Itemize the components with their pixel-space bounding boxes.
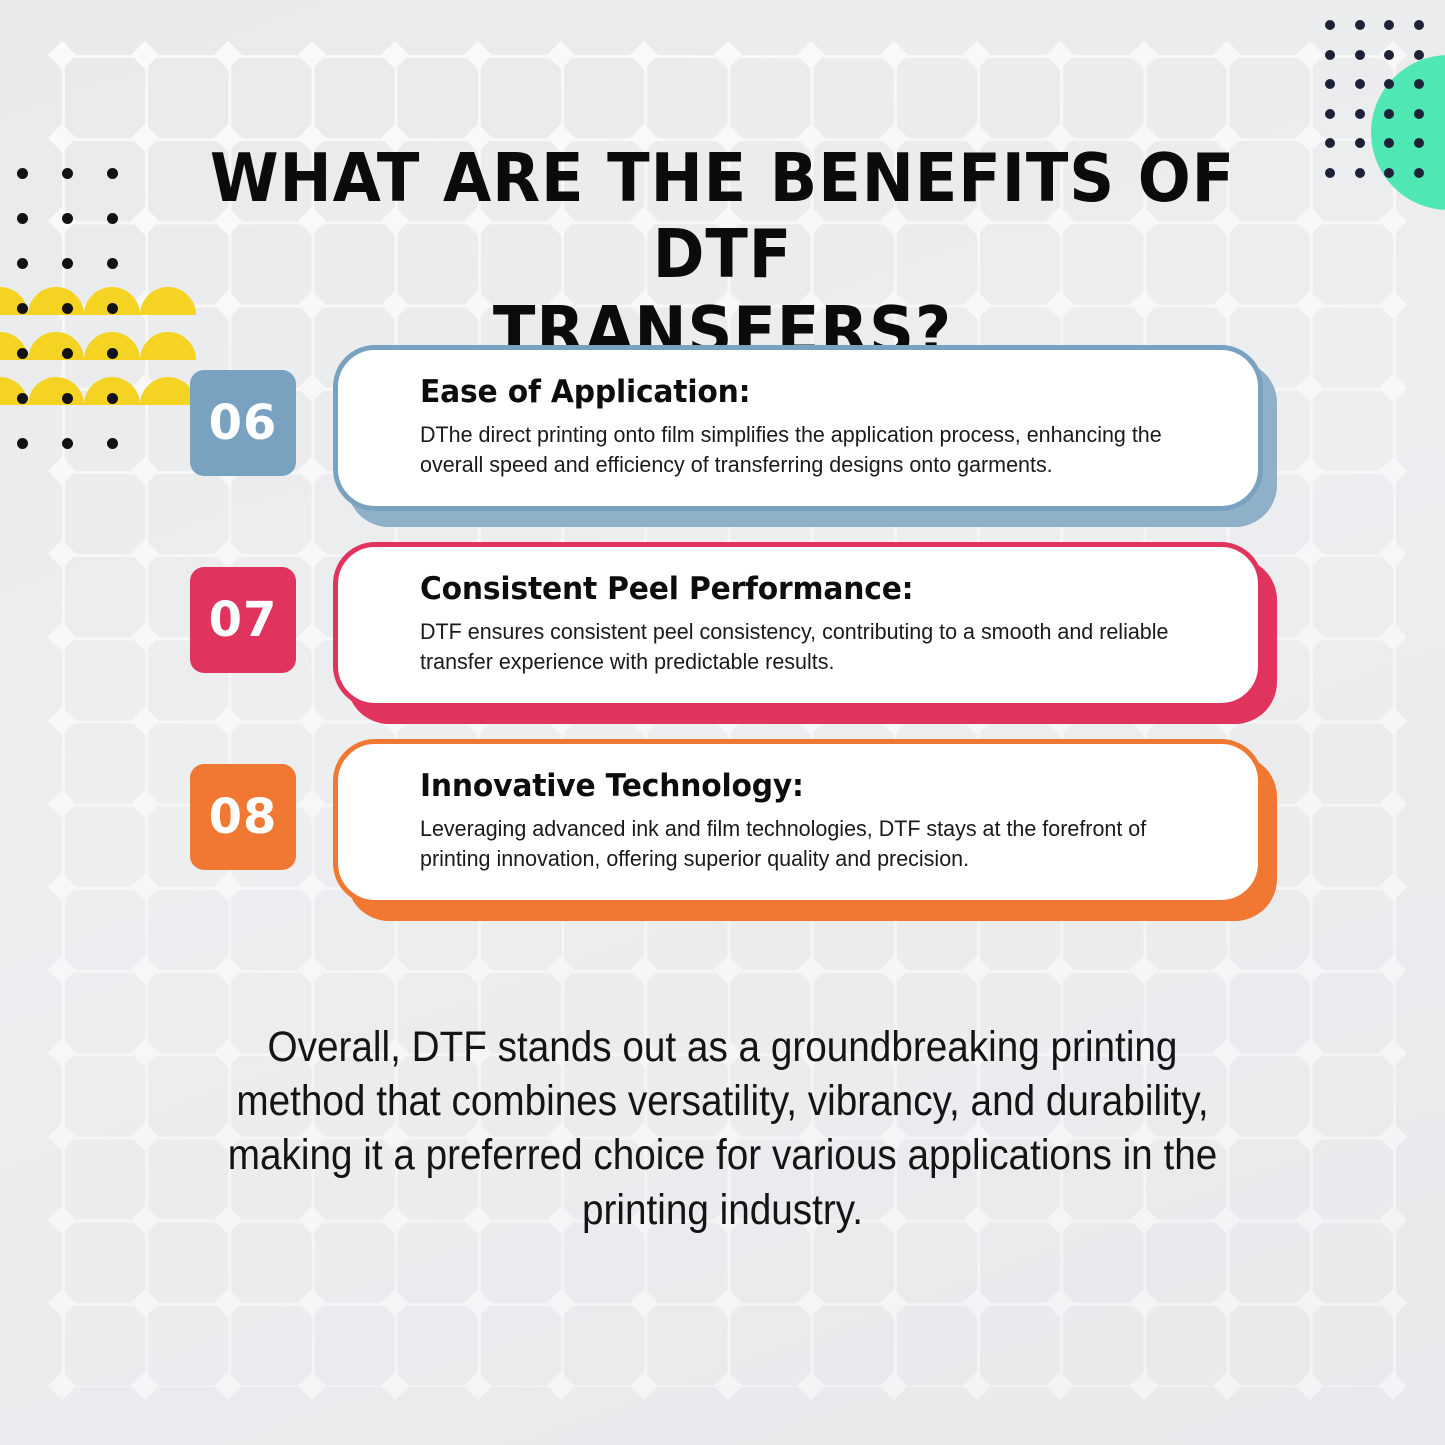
decor-dot (107, 303, 118, 314)
decor-semicircle (0, 287, 28, 315)
grid-intersection-diamond (547, 1289, 575, 1317)
grid-intersection-diamond (1046, 956, 1074, 984)
decor-dot (1355, 50, 1365, 60)
grid-intersection-diamond (48, 124, 76, 152)
decor-dot (1325, 79, 1335, 89)
grid-intersection-diamond (48, 1289, 76, 1317)
decor-dot (1355, 20, 1365, 30)
grid-intersection-diamond (131, 1372, 159, 1400)
benefit-item: 07 Consistent Peel Performance: DTF ensu… (0, 542, 1445, 722)
grid-intersection-diamond (797, 1372, 825, 1400)
grid-intersection-diamond (48, 1372, 76, 1400)
benefit-number-badge: 08 (190, 764, 296, 870)
decor-dot (1414, 79, 1424, 89)
benefit-card-body: DThe direct printing onto film simplifie… (420, 420, 1188, 480)
grid-intersection-diamond (797, 1289, 825, 1317)
grid-intersection-diamond (131, 1122, 159, 1150)
decor-dot (1414, 20, 1424, 30)
grid-intersection-diamond (1296, 207, 1324, 235)
summary-paragraph: Overall, DTF stands out as a groundbreak… (225, 1020, 1220, 1237)
grid-intersection-diamond (297, 1372, 325, 1400)
grid-intersection-diamond (1379, 1206, 1407, 1234)
grid-intersection-diamond (963, 41, 991, 69)
decor-dot (17, 303, 28, 314)
grid-intersection-diamond (48, 290, 76, 318)
decor-dot (1325, 138, 1335, 148)
decor-dot (1355, 138, 1365, 148)
grid-intersection-diamond (1046, 1372, 1074, 1400)
benefit-card-wrapper: Innovative Technology: Leveraging advanc… (333, 739, 1263, 905)
benefit-card-heading: Ease of Application: (420, 374, 1192, 410)
decor-dot (1325, 50, 1335, 60)
grid-intersection-diamond (880, 1289, 908, 1317)
grid-intersection-diamond (1296, 1039, 1324, 1067)
page-title: WHAT ARE THE BENEFITS OF DTF TRANSFERS? (190, 140, 1255, 369)
grid-intersection-diamond (547, 1372, 575, 1400)
grid-intersection-diamond (1129, 41, 1157, 69)
grid-intersection-diamond (214, 956, 242, 984)
grid-intersection-diamond (131, 1206, 159, 1234)
grid-intersection-diamond (1046, 41, 1074, 69)
grid-intersection-diamond (297, 956, 325, 984)
grid-intersection-diamond (1379, 956, 1407, 984)
grid-intersection-diamond (880, 41, 908, 69)
grid-intersection-diamond (630, 41, 658, 69)
decor-dot (17, 213, 28, 224)
grid-intersection-diamond (963, 1372, 991, 1400)
benefit-card-wrapper: Ease of Application: DThe direct printin… (333, 345, 1263, 511)
grid-intersection-diamond (131, 956, 159, 984)
decor-dot (62, 168, 73, 179)
grid-intersection-diamond (713, 1289, 741, 1317)
decoration-left (0, 0, 160, 400)
decor-dot (17, 168, 28, 179)
grid-intersection-diamond (1046, 1289, 1074, 1317)
decor-dot (17, 258, 28, 269)
decor-semicircle (140, 287, 196, 315)
grid-intersection-diamond (963, 956, 991, 984)
grid-intersection-diamond (547, 956, 575, 984)
decor-dot (1384, 109, 1394, 119)
grid-intersection-diamond (381, 1289, 409, 1317)
grid-intersection-diamond (1129, 1289, 1157, 1317)
grid-intersection-diamond (131, 41, 159, 69)
grid-intersection-diamond (630, 956, 658, 984)
grid-intersection-diamond (1129, 1372, 1157, 1400)
decor-dot (107, 213, 118, 224)
decor-dot (62, 213, 73, 224)
decor-dot (107, 258, 118, 269)
benefit-item: 08 Innovative Technology: Leveraging adv… (0, 739, 1445, 919)
grid-intersection-diamond (48, 1206, 76, 1234)
benefit-card: Innovative Technology: Leveraging advanc… (333, 739, 1263, 905)
mint-circle-shape (1371, 55, 1445, 210)
grid-intersection-diamond (131, 207, 159, 235)
decor-dot (1414, 109, 1424, 119)
grid-intersection-diamond (381, 1372, 409, 1400)
grid-intersection-diamond (1379, 1372, 1407, 1400)
grid-intersection-diamond (1379, 124, 1407, 152)
grid-intersection-diamond (1296, 1206, 1324, 1234)
page-title-line-1: WHAT ARE THE BENEFITS OF DTF (190, 140, 1255, 293)
decor-semicircle (84, 287, 140, 315)
decor-dot (107, 168, 118, 179)
grid-intersection-diamond (1296, 290, 1324, 318)
grid-intersection-diamond (48, 207, 76, 235)
decor-dot (1384, 79, 1394, 89)
grid-intersection-diamond (131, 1039, 159, 1067)
decor-dot (1384, 168, 1394, 178)
decor-dot (62, 303, 73, 314)
decor-dot (1384, 50, 1394, 60)
benefit-card: Ease of Application: DThe direct printin… (333, 345, 1263, 511)
grid-intersection-diamond (963, 1289, 991, 1317)
grid-intersection-diamond (214, 1372, 242, 1400)
decor-semicircle (28, 287, 84, 315)
grid-intersection-diamond (713, 1372, 741, 1400)
grid-intersection-diamond (713, 41, 741, 69)
decor-dot (1384, 138, 1394, 148)
benefit-card-heading: Consistent Peel Performance: (420, 571, 1192, 607)
decor-dot (1325, 168, 1335, 178)
grid-intersection-diamond (464, 1289, 492, 1317)
decor-dot (62, 258, 73, 269)
grid-intersection-diamond (297, 1289, 325, 1317)
grid-intersection-diamond (880, 956, 908, 984)
grid-intersection-diamond (1379, 207, 1407, 235)
decor-dot (1355, 109, 1365, 119)
grid-intersection-diamond (630, 1289, 658, 1317)
grid-intersection-diamond (797, 41, 825, 69)
grid-intersection-diamond (1296, 1372, 1324, 1400)
grid-intersection-diamond (131, 290, 159, 318)
grid-intersection-diamond (1129, 956, 1157, 984)
grid-intersection-diamond (1213, 41, 1241, 69)
grid-intersection-diamond (1379, 1039, 1407, 1067)
grid-intersection-diamond (48, 956, 76, 984)
grid-intersection-diamond (797, 956, 825, 984)
decor-dot (1325, 109, 1335, 119)
decor-dot (1355, 79, 1365, 89)
decor-dot (1325, 20, 1335, 30)
grid-intersection-diamond (464, 956, 492, 984)
grid-intersection-diamond (381, 41, 409, 69)
grid-intersection-diamond (48, 41, 76, 69)
grid-intersection-diamond (1296, 956, 1324, 984)
grid-intersection-diamond (1379, 290, 1407, 318)
grid-intersection-diamond (1213, 956, 1241, 984)
grid-intersection-diamond (214, 1289, 242, 1317)
grid-intersection-diamond (214, 41, 242, 69)
decor-dot (1414, 138, 1424, 148)
benefit-number-badge: 06 (190, 370, 296, 476)
grid-intersection-diamond (464, 41, 492, 69)
grid-intersection-diamond (131, 1289, 159, 1317)
decor-dot (1355, 168, 1365, 178)
grid-intersection-diamond (464, 1372, 492, 1400)
benefit-number-badge: 07 (190, 567, 296, 673)
grid-intersection-diamond (48, 1039, 76, 1067)
benefit-card-wrapper: Consistent Peel Performance: DTF ensures… (333, 542, 1263, 708)
grid-intersection-diamond (131, 124, 159, 152)
grid-intersection-diamond (1379, 1289, 1407, 1317)
grid-intersection-diamond (1296, 1122, 1324, 1150)
grid-intersection-diamond (630, 1372, 658, 1400)
benefit-card-body: DTF ensures consistent peel consistency,… (420, 617, 1188, 677)
grid-intersection-diamond (547, 41, 575, 69)
grid-intersection-diamond (297, 41, 325, 69)
benefit-card: Consistent Peel Performance: DTF ensures… (333, 542, 1263, 708)
grid-intersection-diamond (1296, 41, 1324, 69)
benefit-card-body: Leveraging advanced ink and film technol… (420, 814, 1188, 874)
grid-intersection-diamond (1296, 1289, 1324, 1317)
grid-intersection-diamond (1296, 124, 1324, 152)
grid-intersection-diamond (1213, 1289, 1241, 1317)
decor-dot (1414, 168, 1424, 178)
grid-intersection-diamond (1379, 1122, 1407, 1150)
grid-intersection-diamond (1213, 1372, 1241, 1400)
benefit-card-heading: Innovative Technology: (420, 768, 1192, 804)
decor-dot (1384, 20, 1394, 30)
grid-intersection-diamond (1379, 41, 1407, 69)
grid-intersection-diamond (880, 1372, 908, 1400)
decor-dot (1414, 50, 1424, 60)
grid-intersection-diamond (713, 956, 741, 984)
grid-intersection-diamond (381, 956, 409, 984)
grid-intersection-diamond (48, 1122, 76, 1150)
benefit-item: 06 Ease of Application: DThe direct prin… (0, 345, 1445, 525)
decoration-top-right (1285, 0, 1445, 230)
